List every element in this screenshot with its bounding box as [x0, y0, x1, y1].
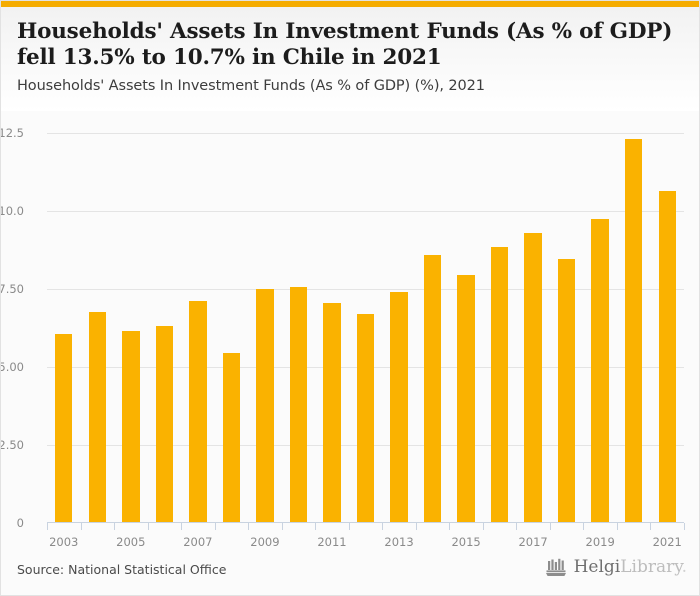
- x-axis-tick: [449, 523, 450, 530]
- y-axis-tick-label: 2.50: [0, 438, 24, 452]
- logo-helgi-text: Helgi: [574, 557, 621, 577]
- bar-2005[interactable]: [122, 331, 139, 523]
- x-axis-tick: [148, 523, 149, 530]
- bar-2019[interactable]: [591, 219, 608, 523]
- y-axis-tick-label: 12.5: [0, 126, 24, 140]
- x-axis-tick: [382, 523, 383, 530]
- x-axis-tick: [47, 523, 48, 530]
- x-axis-tick: [215, 523, 216, 530]
- bar-2018[interactable]: [558, 259, 575, 523]
- bar-2006[interactable]: [156, 326, 173, 523]
- bar-2012[interactable]: [357, 314, 374, 523]
- gridline: [47, 133, 684, 134]
- x-axis-tick: [617, 523, 618, 530]
- bar-2016[interactable]: [491, 247, 508, 523]
- x-axis-tick: [114, 523, 115, 530]
- logo-wordmark: HelgiLibrary.: [574, 559, 687, 576]
- plot-area: 02.505.007.5010.012.5 200320052007200920…: [47, 133, 684, 523]
- bar-2013[interactable]: [390, 292, 407, 523]
- x-axis-tick: [248, 523, 249, 530]
- bar-2017[interactable]: [524, 233, 541, 523]
- chart-subtitle: Households' Assets In Investment Funds (…: [17, 78, 685, 94]
- bar-2004[interactable]: [89, 312, 106, 523]
- gridline: [47, 211, 684, 212]
- x-axis-tick: [315, 523, 316, 530]
- bar-2011[interactable]: [323, 303, 340, 523]
- gridline: [47, 289, 684, 290]
- library-building-icon: [546, 558, 568, 577]
- helgi-library-logo[interactable]: HelgiLibrary.: [546, 558, 687, 577]
- x-axis-tick: [483, 523, 484, 530]
- source-text: Source: National Statistical Office: [17, 562, 226, 577]
- x-axis-line: [47, 522, 684, 523]
- bar-2008[interactable]: [223, 353, 240, 523]
- bar-2010[interactable]: [290, 287, 307, 523]
- x-axis-tick: [81, 523, 82, 530]
- y-axis-tick-label: 7.50: [0, 282, 24, 296]
- bar-2015[interactable]: [457, 275, 474, 523]
- y-axis-tick-label: 0: [0, 516, 24, 530]
- bar-2020[interactable]: [625, 139, 642, 523]
- x-axis-tick: [349, 523, 350, 530]
- x-axis-tick: [282, 523, 283, 530]
- x-axis-tick: [181, 523, 182, 530]
- bar-2003[interactable]: [55, 334, 72, 523]
- chart-footer: Source: National Statistical Office Helg…: [1, 546, 700, 596]
- x-axis-tick: [583, 523, 584, 530]
- chart-header: Households' Assets In Investment Funds (…: [1, 7, 700, 111]
- x-axis-tick: [650, 523, 651, 530]
- y-axis-tick-label: 5.00: [0, 360, 24, 374]
- bar-2009[interactable]: [256, 289, 273, 523]
- chart-page: Households' Assets In Investment Funds (…: [0, 0, 700, 596]
- logo-library-text: Library: [620, 557, 681, 577]
- bar-2021[interactable]: [659, 191, 676, 523]
- logo-dot: .: [682, 557, 687, 577]
- x-axis-tick: [516, 523, 517, 530]
- bar-2014[interactable]: [424, 255, 441, 523]
- plot-region: 02.505.007.5010.012.5 200320052007200920…: [1, 111, 700, 546]
- bar-2007[interactable]: [189, 301, 206, 523]
- x-axis-tick: [684, 523, 685, 530]
- x-axis-tick: [416, 523, 417, 530]
- x-axis-tick: [550, 523, 551, 530]
- page-title: Households' Assets In Investment Funds (…: [17, 19, 685, 71]
- y-axis-tick-label: 10.0: [0, 204, 24, 218]
